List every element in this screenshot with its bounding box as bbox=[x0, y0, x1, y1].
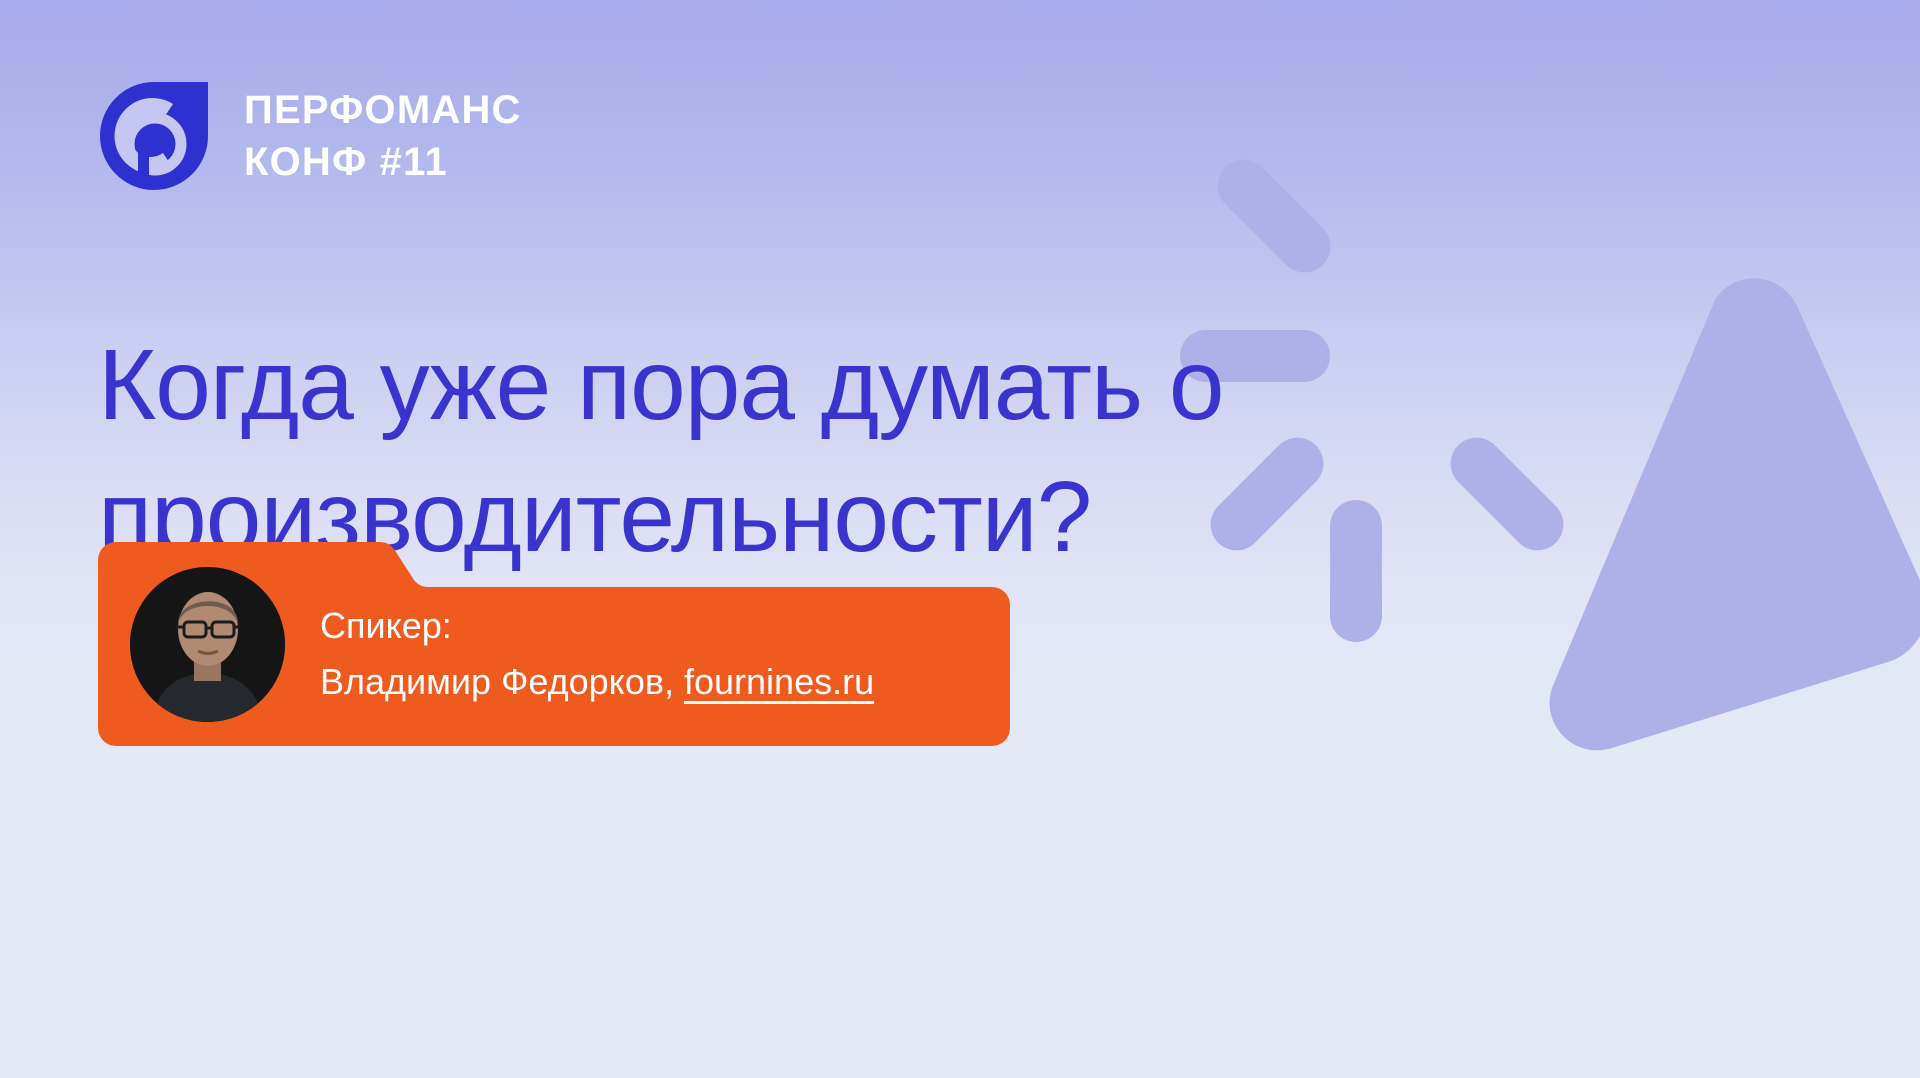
speaker-info: Спикер: Владимир Федорков,fournines.ru bbox=[320, 598, 874, 710]
speaker-name: Владимир Федорков, bbox=[320, 661, 674, 702]
brand-line-2: КОНФ #11 bbox=[244, 136, 522, 188]
megaphone-icon bbox=[1550, 278, 1920, 750]
perfomance-conf-logo-icon bbox=[100, 82, 208, 190]
speaker-url-link[interactable]: fournines.ru bbox=[684, 661, 874, 702]
brand-title: ПЕРФОМАНС КОНФ #11 bbox=[244, 84, 522, 188]
speaker-label: Спикер: bbox=[320, 598, 874, 654]
brand-line-1: ПЕРФОМАНС bbox=[244, 84, 522, 136]
slide-root: ПЕРФОМАНС КОНФ #11 Когда уже пора думать… bbox=[0, 0, 1920, 1078]
speaker-name-row: Владимир Федорков,fournines.ru bbox=[320, 654, 874, 710]
headline-line-1: Когда уже пора думать о bbox=[98, 319, 1358, 451]
avatar bbox=[130, 567, 285, 722]
speaker-card: Спикер: Владимир Федорков,fournines.ru bbox=[98, 542, 1010, 746]
brand-header: ПЕРФОМАНС КОНФ #11 bbox=[100, 82, 522, 190]
